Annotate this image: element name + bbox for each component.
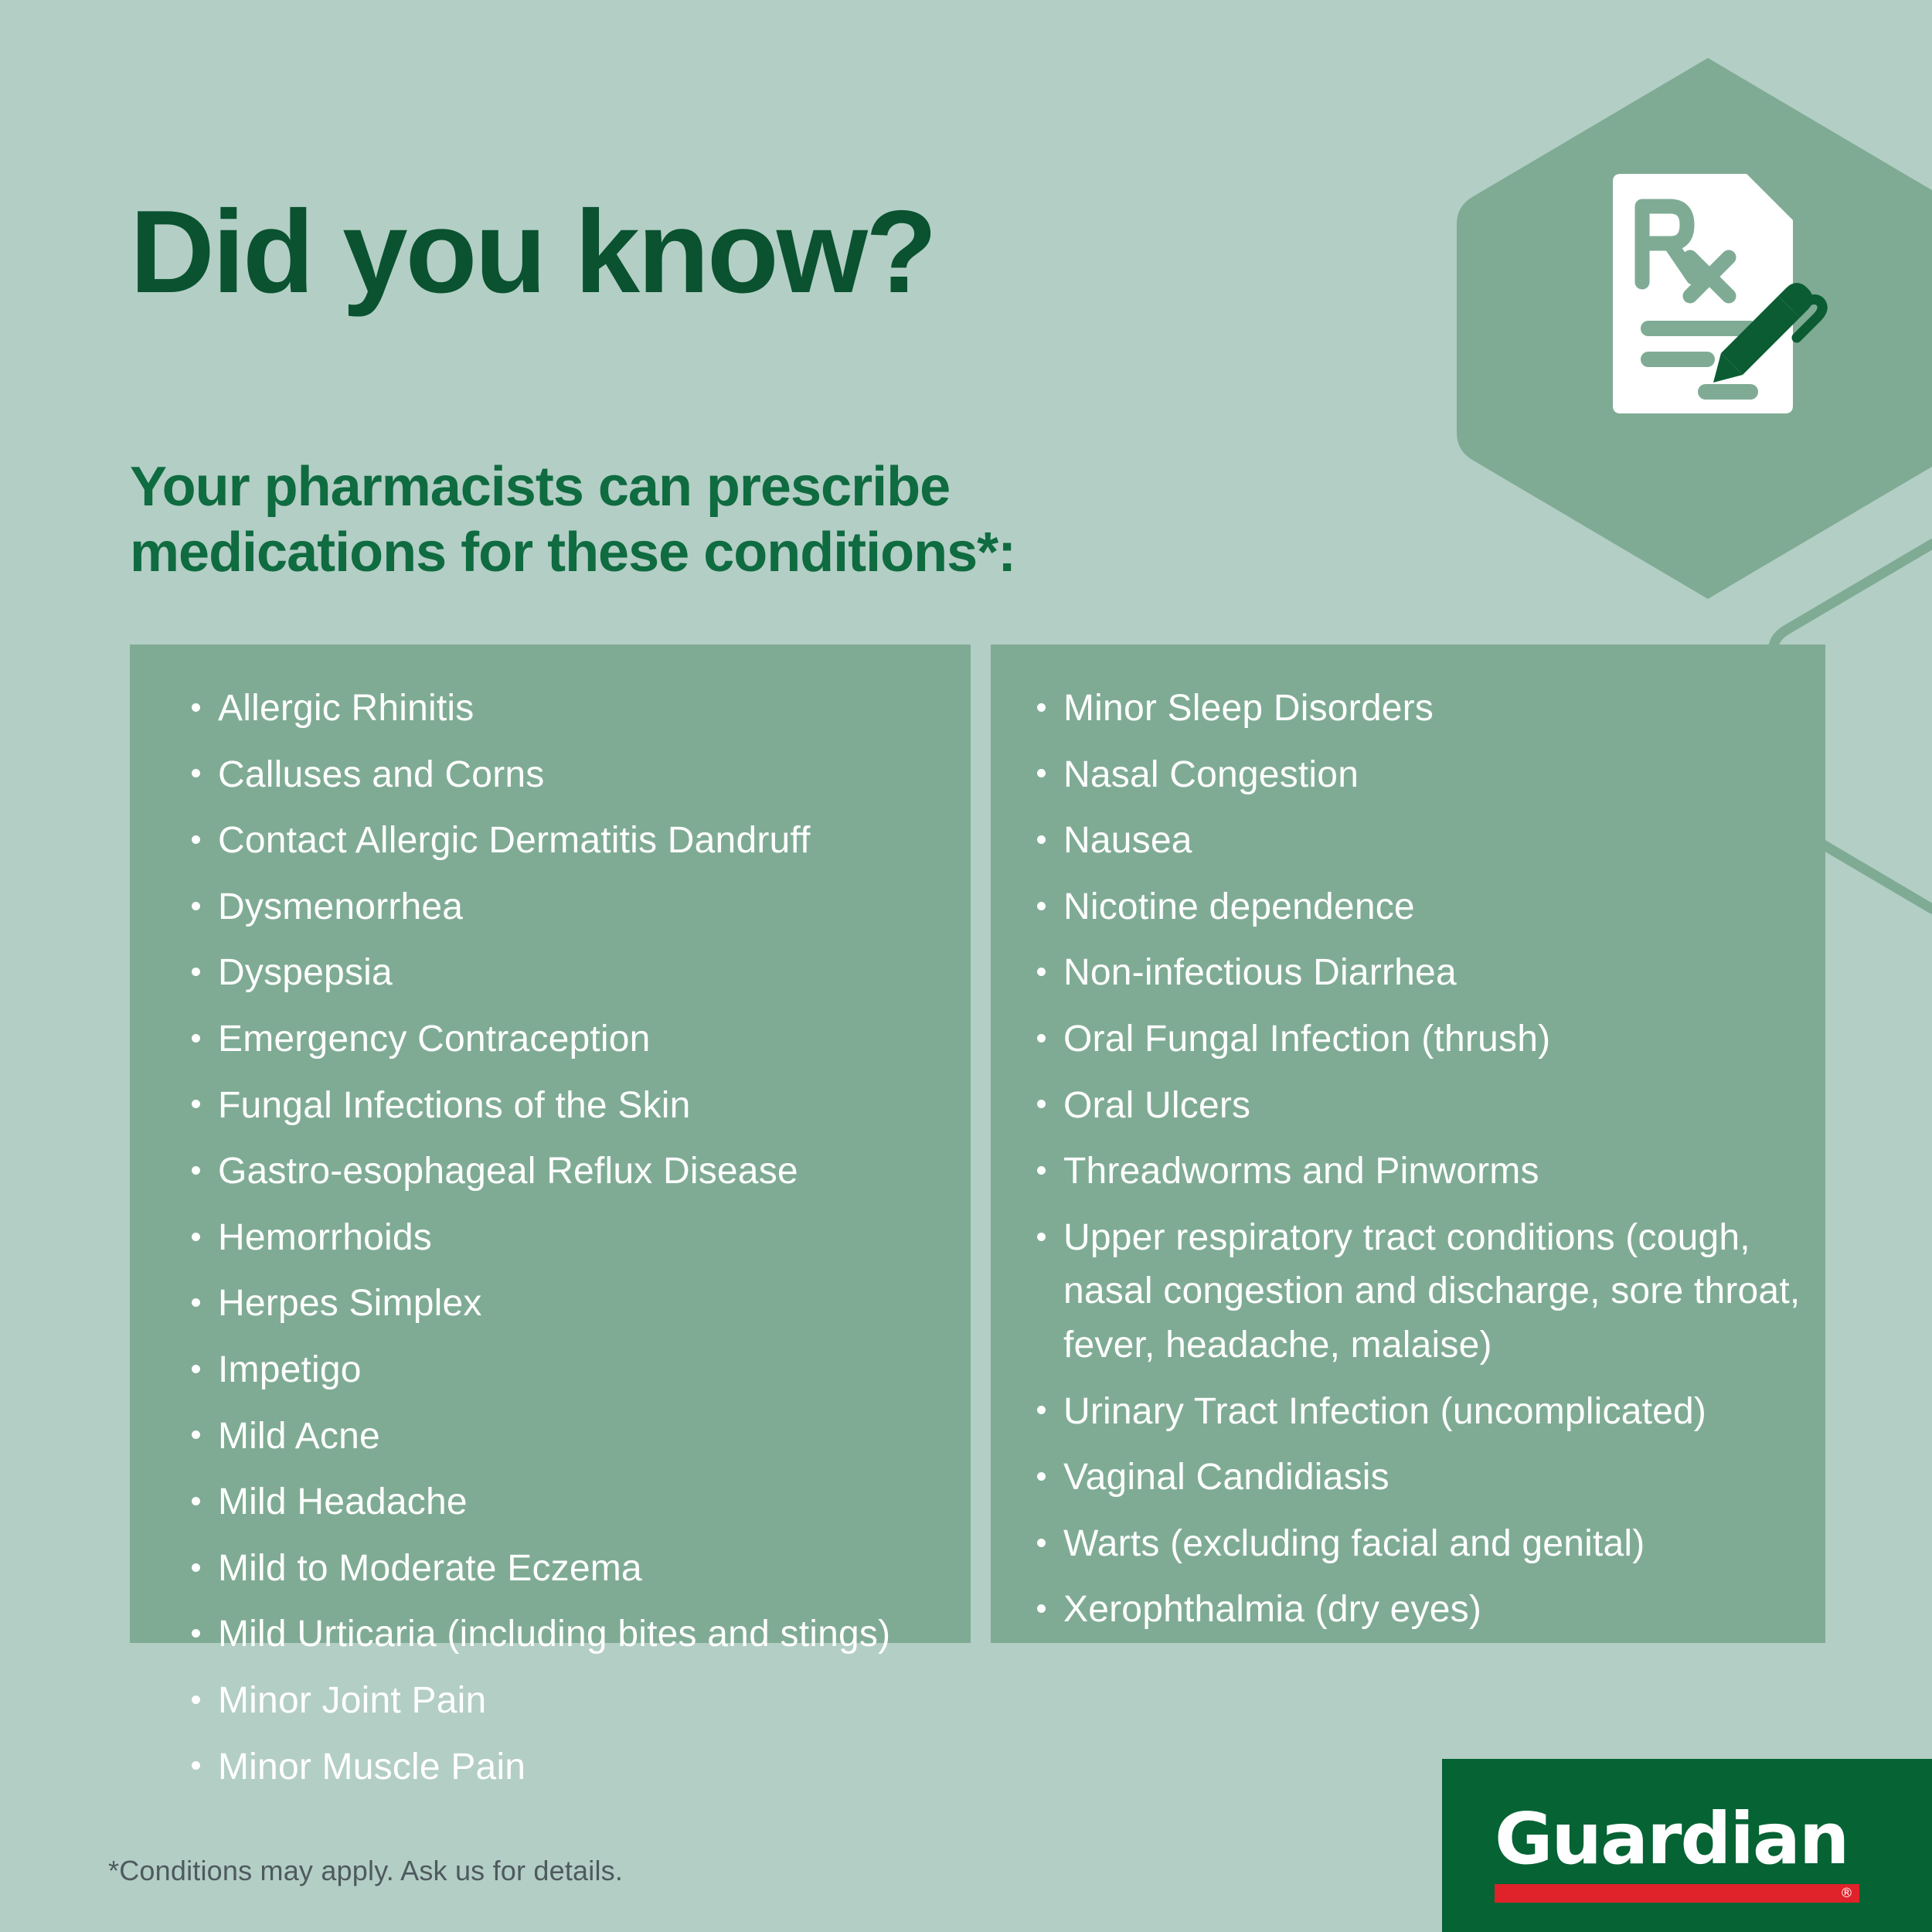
- condition-label: Dysmenorrhea: [218, 886, 463, 927]
- condition-list-item: Nicotine dependence: [1036, 880, 1808, 934]
- bullet-icon: [192, 769, 200, 777]
- bullet-icon: [192, 703, 200, 712]
- condition-label: Mild Urticaria (including bites and stin…: [218, 1614, 890, 1655]
- condition-label: Mild Headache: [218, 1481, 468, 1522]
- bullet-icon: [192, 1696, 200, 1704]
- condition-label: Impetigo: [218, 1349, 362, 1390]
- conditions-list-left: Allergic RhinitisCalluses and CornsConta…: [190, 682, 955, 1806]
- condition-list-item: Herpes Simplex: [190, 1277, 955, 1331]
- condition-list-item: Urinary Tract Infection (uncomplicated): [1036, 1385, 1808, 1439]
- condition-list-item: Allergic Rhinitis: [190, 682, 955, 736]
- conditions-list-right: Minor Sleep DisordersNasal CongestionNau…: [1036, 682, 1808, 1649]
- bullet-icon: [192, 1365, 200, 1373]
- condition-label: Oral Ulcers: [1063, 1085, 1250, 1126]
- condition-label: Contact Allergic Dermatitis Dandruff: [218, 820, 811, 861]
- brand-underline-rule: ®: [1495, 1884, 1859, 1903]
- bullet-icon: [192, 1166, 200, 1175]
- conditions-panel-right: Minor Sleep DisordersNasal CongestionNau…: [991, 645, 1825, 1643]
- bullet-icon: [192, 968, 200, 976]
- condition-list-item: Hemorrhoids: [190, 1211, 955, 1265]
- bullet-icon: [1037, 769, 1046, 777]
- condition-label: Warts (excluding facial and genital): [1063, 1523, 1645, 1564]
- page-title: Did you know?: [130, 193, 935, 311]
- condition-list-item: Gastro-esophageal Reflux Disease: [190, 1145, 955, 1199]
- condition-label: Gastro-esophageal Reflux Disease: [218, 1151, 798, 1192]
- condition-list-item: Fungal Infections of the Skin: [190, 1079, 955, 1133]
- condition-label: Xerophthalmia (dry eyes): [1063, 1589, 1481, 1630]
- condition-list-item: Upper respiratory tract conditions (coug…: [1036, 1211, 1808, 1372]
- condition-label: Vaginal Candidiasis: [1063, 1457, 1389, 1498]
- bullet-icon: [1037, 703, 1046, 712]
- condition-list-item: Nausea: [1036, 814, 1808, 868]
- bullet-icon: [1037, 1539, 1046, 1547]
- condition-label: Oral Fungal Infection (thrush): [1063, 1019, 1550, 1060]
- subtitle-line-1: Your pharmacists can prescribe: [130, 454, 1289, 520]
- bullet-icon: [192, 1629, 200, 1638]
- condition-label: Allergic Rhinitis: [218, 688, 474, 729]
- condition-list-item: Threadworms and Pinworms: [1036, 1145, 1808, 1199]
- guardian-logo: Guardian ®: [1442, 1759, 1932, 1932]
- condition-list-item: Xerophthalmia (dry eyes): [1036, 1583, 1808, 1637]
- condition-label: Non-infectious Diarrhea: [1063, 952, 1457, 993]
- condition-list-item: Dysmenorrhea: [190, 880, 955, 934]
- bullet-icon: [192, 1100, 200, 1108]
- condition-list-item: Minor Joint Pain: [190, 1674, 955, 1728]
- bullet-icon: [1037, 902, 1046, 910]
- condition-list-item: Contact Allergic Dermatitis Dandruff: [190, 814, 955, 868]
- condition-label: Nausea: [1063, 820, 1192, 861]
- condition-list-item: Emergency Contraception: [190, 1012, 955, 1066]
- condition-label: Minor Muscle Pain: [218, 1747, 526, 1787]
- condition-list-item: Mild Urticaria (including bites and stin…: [190, 1607, 955, 1662]
- bullet-icon: [1037, 1472, 1046, 1481]
- condition-list-item: Mild Acne: [190, 1410, 955, 1464]
- condition-list-item: Dyspepsia: [190, 946, 955, 1000]
- infographic-poster: Did you know? Your pharmacists can presc…: [0, 0, 1932, 1932]
- condition-list-item: Oral Fungal Infection (thrush): [1036, 1012, 1808, 1066]
- bullet-icon: [192, 1298, 200, 1307]
- bullet-icon: [1037, 968, 1046, 976]
- bullet-icon: [1037, 1406, 1046, 1414]
- condition-list-item: Nasal Congestion: [1036, 748, 1808, 802]
- condition-label: Threadworms and Pinworms: [1063, 1151, 1539, 1192]
- condition-label: Mild Acne: [218, 1416, 380, 1457]
- registered-trademark-icon: ®: [1840, 1885, 1853, 1902]
- condition-label: Hemorrhoids: [218, 1217, 432, 1258]
- condition-list-item: Minor Muscle Pain: [190, 1740, 955, 1794]
- bullet-icon: [192, 1034, 200, 1043]
- page-subtitle: Your pharmacists can prescribe medicatio…: [130, 454, 1289, 586]
- condition-list-item: Impetigo: [190, 1343, 955, 1397]
- condition-label: Dyspepsia: [218, 952, 393, 993]
- condition-list-item: Warts (excluding facial and genital): [1036, 1517, 1808, 1571]
- condition-label: Nasal Congestion: [1063, 754, 1359, 795]
- bullet-icon: [192, 1233, 200, 1241]
- subtitle-line-2: medications for these conditions*:: [130, 520, 1289, 586]
- bullet-icon: [1037, 1233, 1046, 1241]
- condition-label: Upper respiratory tract conditions (coug…: [1063, 1217, 1800, 1366]
- brand-wordmark: Guardian: [1495, 1804, 1881, 1875]
- bullet-icon: [1037, 1166, 1046, 1175]
- bullet-icon: [1037, 1604, 1046, 1613]
- condition-list-item: Vaginal Candidiasis: [1036, 1451, 1808, 1505]
- condition-list-item: Calluses and Corns: [190, 748, 955, 802]
- logo-inner: Guardian ®: [1495, 1804, 1881, 1903]
- bullet-icon: [1037, 1100, 1046, 1108]
- condition-label: Urinary Tract Infection (uncomplicated): [1063, 1391, 1706, 1432]
- bullet-icon: [192, 1430, 200, 1439]
- condition-list-item: Mild Headache: [190, 1475, 955, 1529]
- conditions-panel-left: Allergic RhinitisCalluses and CornsConta…: [130, 645, 971, 1643]
- footnote-disclaimer: *Conditions may apply. Ask us for detail…: [108, 1855, 623, 1887]
- bullet-icon: [192, 1761, 200, 1770]
- bullet-icon: [192, 835, 200, 844]
- condition-list-item: Minor Sleep Disorders: [1036, 682, 1808, 736]
- prescription-document-icon: [1604, 174, 1828, 437]
- bullet-icon: [1037, 1034, 1046, 1043]
- bullet-icon: [192, 1563, 200, 1572]
- bullet-icon: [1037, 835, 1046, 844]
- condition-list-item: Oral Ulcers: [1036, 1079, 1808, 1133]
- condition-list-item: Mild to Moderate Eczema: [190, 1542, 955, 1596]
- condition-label: Nicotine dependence: [1063, 886, 1415, 927]
- condition-label: Minor Joint Pain: [218, 1680, 486, 1721]
- condition-list-item: Non-infectious Diarrhea: [1036, 946, 1808, 1000]
- condition-label: Calluses and Corns: [218, 754, 544, 795]
- bullet-icon: [192, 902, 200, 910]
- bullet-icon: [192, 1497, 200, 1505]
- condition-label: Fungal Infections of the Skin: [218, 1085, 691, 1126]
- condition-label: Herpes Simplex: [218, 1283, 482, 1324]
- condition-label: Mild to Moderate Eczema: [218, 1548, 642, 1589]
- condition-label: Minor Sleep Disorders: [1063, 688, 1434, 729]
- condition-label: Emergency Contraception: [218, 1019, 651, 1060]
